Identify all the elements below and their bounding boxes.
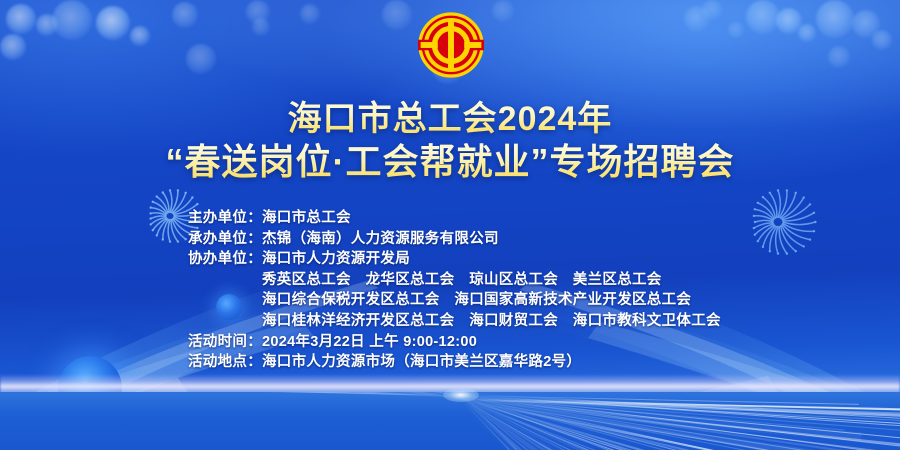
road-ray: [0, 392, 461, 395]
bokeh-dot: [246, 0, 270, 24]
bokeh-dot: [746, 0, 780, 34]
road-ray: [0, 392, 461, 398]
road-ray: [0, 392, 461, 396]
info-row-label: 主办单位：: [188, 208, 262, 229]
road-ray: [0, 392, 461, 398]
bokeh-dot: [828, 46, 850, 68]
poster-canvas: 海口市总工会2024年 “春送岗位·工会帮就业”专场招聘会 主办单位：海口市总工…: [0, 0, 900, 450]
road-ray: [0, 392, 462, 399]
road-band: [460, 399, 900, 450]
info-row: 活动时间：2024年3月22日 上午 9:00-12:00: [0, 332, 900, 353]
road-band: [0, 392, 462, 397]
road-ray: [0, 392, 461, 393]
road-ray: [0, 392, 461, 398]
road-ray: [461, 397, 900, 450]
road-ray: [461, 395, 900, 450]
road-ray: [460, 393, 864, 450]
road-ray: [461, 396, 845, 431]
info-row: 活动地点：海口市人力资源市场（海口市美兰区嘉华路2号）: [0, 352, 900, 373]
road-band: [0, 392, 463, 395]
road-ray: [0, 392, 461, 396]
road-ray: [461, 395, 900, 450]
road-ray: [461, 398, 900, 450]
road-band: [458, 397, 900, 450]
road-ray: [0, 392, 461, 394]
road-band: [459, 394, 806, 450]
road-ray: [461, 394, 900, 450]
road-ray: [461, 398, 860, 450]
road-ray: [460, 394, 900, 450]
road-ray: [460, 393, 900, 450]
road-band: [80, 392, 465, 398]
poster-title-line-1: 海口市总工会2024年: [0, 100, 900, 138]
bokeh-dot: [252, 18, 270, 36]
road-ray: [0, 392, 462, 397]
road-ray: [0, 392, 461, 394]
road-ray: [0, 392, 461, 397]
road-ray: [461, 394, 900, 450]
road-ray: [460, 399, 900, 450]
info-row-value: 海口市总工会: [262, 208, 351, 229]
road-ray: [461, 398, 900, 450]
road-band: [458, 395, 820, 450]
road-ray: [0, 392, 461, 399]
road-band: [456, 397, 900, 450]
bokeh-dot: [382, 0, 412, 30]
road-ray: [0, 392, 461, 398]
road-ray: [23, 392, 461, 396]
road-ray: [0, 392, 462, 398]
road-ray: [461, 397, 900, 450]
road-ray: [461, 396, 859, 450]
info-row-label: 承办单位：: [188, 229, 262, 250]
road-ray: [461, 395, 900, 450]
road-ray: [79, 392, 461, 397]
road-ray: [0, 392, 462, 399]
road-ray: [461, 398, 900, 414]
road-ray: [461, 393, 900, 424]
info-row: 海口桂林洋经济开发区总工会 海口财贸工会 海口市教科文卫体工会: [0, 311, 900, 332]
info-row-value: 海口市人力资源市场（海口市美兰区嘉华路2号）: [262, 352, 581, 373]
road-ray: [461, 398, 900, 450]
bokeh-dot: [872, 30, 892, 50]
road-ray: [460, 397, 900, 450]
bokeh-dot: [852, 10, 880, 38]
road-ray: [460, 396, 900, 450]
road-band: [0, 392, 462, 398]
road-ray: [461, 398, 900, 425]
info-row-value: 海口市人力资源开发局: [262, 249, 410, 270]
info-row-value: 2024年3月22日 上午 9:00-12:00: [262, 332, 477, 353]
road-ray: [60, 392, 461, 396]
road-ray: [461, 395, 900, 450]
road-ray: [0, 392, 461, 394]
road-ray: [0, 392, 461, 398]
road-ray: [31, 392, 461, 398]
road-ray: [0, 392, 462, 395]
road-ray: [461, 397, 900, 450]
road-ray: [460, 396, 751, 450]
road-ray: [461, 395, 900, 425]
bokeh-dot: [130, 26, 150, 46]
road-ray: [460, 397, 900, 450]
road-ray: [461, 395, 900, 450]
road-ray: [461, 394, 900, 450]
road-ray: [0, 392, 461, 396]
info-row: 承办单位：杰锦（海南）人力资源服务有限公司: [0, 229, 900, 250]
road-ray: [68, 392, 461, 399]
road-ray: [461, 397, 900, 417]
info-row-label: 活动时间：: [188, 332, 262, 353]
road-ray: [460, 396, 864, 450]
info-row-value: 海口综合保税开发区总工会 海口国家高新技术产业开发区总工会: [262, 290, 691, 311]
road-band: [105, 392, 465, 394]
info-row-value: 海口桂林洋经济开发区总工会 海口财贸工会 海口市教科文卫体工会: [262, 311, 721, 332]
road-ray: [460, 396, 900, 450]
road-ray: [0, 392, 461, 393]
bokeh-dot: [300, 4, 320, 24]
road-ray: [461, 397, 900, 450]
road-ray: [0, 392, 461, 395]
road-ray: [76, 392, 461, 396]
road-ray: [461, 395, 900, 450]
road-band: [41, 392, 462, 396]
road-ray: [0, 392, 461, 397]
road-ray: [0, 392, 461, 397]
road-ray: [460, 394, 900, 450]
road-ray: [461, 398, 900, 450]
bokeh-dot: [96, 6, 130, 40]
road-ray: [461, 395, 900, 450]
road-ray: [0, 392, 461, 397]
road-ray: [70, 392, 461, 395]
road-ray: [461, 395, 900, 434]
road-ray: [461, 393, 900, 450]
bokeh-dot: [702, 0, 722, 20]
info-row-value: 秀英区总工会 龙华区总工会 琼山区总工会 美兰区总工会: [262, 270, 662, 291]
road-ray: [461, 398, 900, 415]
road-ray: [461, 398, 900, 450]
vanishing-point-glow: [443, 388, 479, 402]
road-ray: [0, 392, 462, 396]
road-band: [460, 398, 861, 441]
bokeh-dot: [186, 44, 216, 74]
bokeh-dot: [6, 4, 36, 34]
road-ray: [461, 399, 900, 411]
road-ray: [461, 394, 900, 450]
road-ray: [0, 392, 461, 393]
bokeh-dot: [172, 2, 198, 28]
road-ray: [461, 398, 900, 450]
union-emblem-icon: [418, 12, 484, 78]
road-ray: [0, 392, 461, 395]
road-ray: [0, 392, 461, 395]
road-ray: [461, 395, 900, 450]
road-ray: [0, 392, 461, 396]
road-ray: [0, 392, 461, 393]
road-ray: [461, 397, 900, 450]
event-info-block: 主办单位：海口市总工会承办单位：杰锦（海南）人力资源服务有限公司协办单位：海口市…: [0, 208, 900, 373]
road-ray: [0, 392, 461, 397]
road-ray: [460, 395, 900, 450]
road-ray: [0, 392, 461, 394]
road-ray: [0, 392, 461, 395]
road-ray: [0, 392, 461, 398]
road-ray: [0, 392, 461, 396]
bokeh-dot: [816, 0, 854, 38]
road-ray: [0, 392, 462, 397]
road-ray: [0, 392, 461, 394]
road-ray: [84, 392, 462, 393]
perspective-road: [0, 392, 900, 450]
road-ray: [0, 392, 461, 399]
road-ray: [461, 398, 900, 431]
road-ray: [178, 392, 461, 395]
info-row: 协办单位：海口市人力资源开发局: [0, 249, 900, 270]
road-ray: [460, 398, 900, 450]
bokeh-dot: [36, 14, 58, 36]
bokeh-dot: [492, 0, 514, 22]
road-ray: [41, 392, 461, 395]
road-ray: [0, 392, 462, 396]
info-row-label: 活动地点：: [188, 352, 262, 373]
road-ray: [81, 392, 462, 398]
road-band: [459, 395, 900, 450]
bokeh-dot: [798, 24, 816, 42]
road-ray: [461, 395, 859, 405]
bokeh-dot: [684, 6, 710, 32]
road-ray: [146, 392, 461, 394]
road-ray: [461, 398, 900, 450]
road-ray: [461, 396, 900, 450]
info-row-value: 杰锦（海南）人力资源服务有限公司: [262, 229, 499, 250]
road-ray: [460, 397, 894, 450]
bokeh-dot: [728, 22, 744, 38]
info-row: 主办单位：海口市总工会: [0, 208, 900, 229]
poster-title-line-2: “春送岗位·工会帮就业”专场招聘会: [0, 142, 900, 182]
info-row-label: 协办单位：: [188, 249, 262, 270]
bokeh-dot: [0, 34, 26, 60]
road-ray: [461, 398, 900, 450]
bokeh-dot: [776, 8, 802, 34]
info-row: 秀英区总工会 龙华区总工会 琼山区总工会 美兰区总工会: [0, 270, 900, 291]
horizon-glow-band: [0, 374, 900, 400]
road-ray: [461, 394, 900, 450]
road-ray: [0, 392, 461, 395]
road-ray: [461, 394, 900, 450]
title-block: 海口市总工会2024年 “春送岗位·工会帮就业”专场招聘会: [0, 100, 900, 182]
road-ray: [74, 392, 461, 398]
road-ray: [0, 392, 462, 396]
road-band: [0, 392, 466, 398]
road-ray: [461, 395, 900, 428]
road-ray: [0, 392, 461, 393]
road-ray: [460, 399, 739, 450]
bokeh-dot: [52, 0, 92, 40]
road-ray: [0, 392, 461, 394]
road-ray: [69, 392, 461, 393]
road-band: [0, 392, 462, 398]
road-ray: [0, 392, 461, 398]
road-ray: [0, 392, 461, 394]
acftu-union-emblem-logo: [418, 12, 484, 78]
info-row: 海口综合保税开发区总工会 海口国家高新技术产业开发区总工会: [0, 290, 900, 311]
road-band: [460, 398, 900, 450]
road-ray: [461, 394, 900, 450]
road-ray: [460, 399, 900, 450]
